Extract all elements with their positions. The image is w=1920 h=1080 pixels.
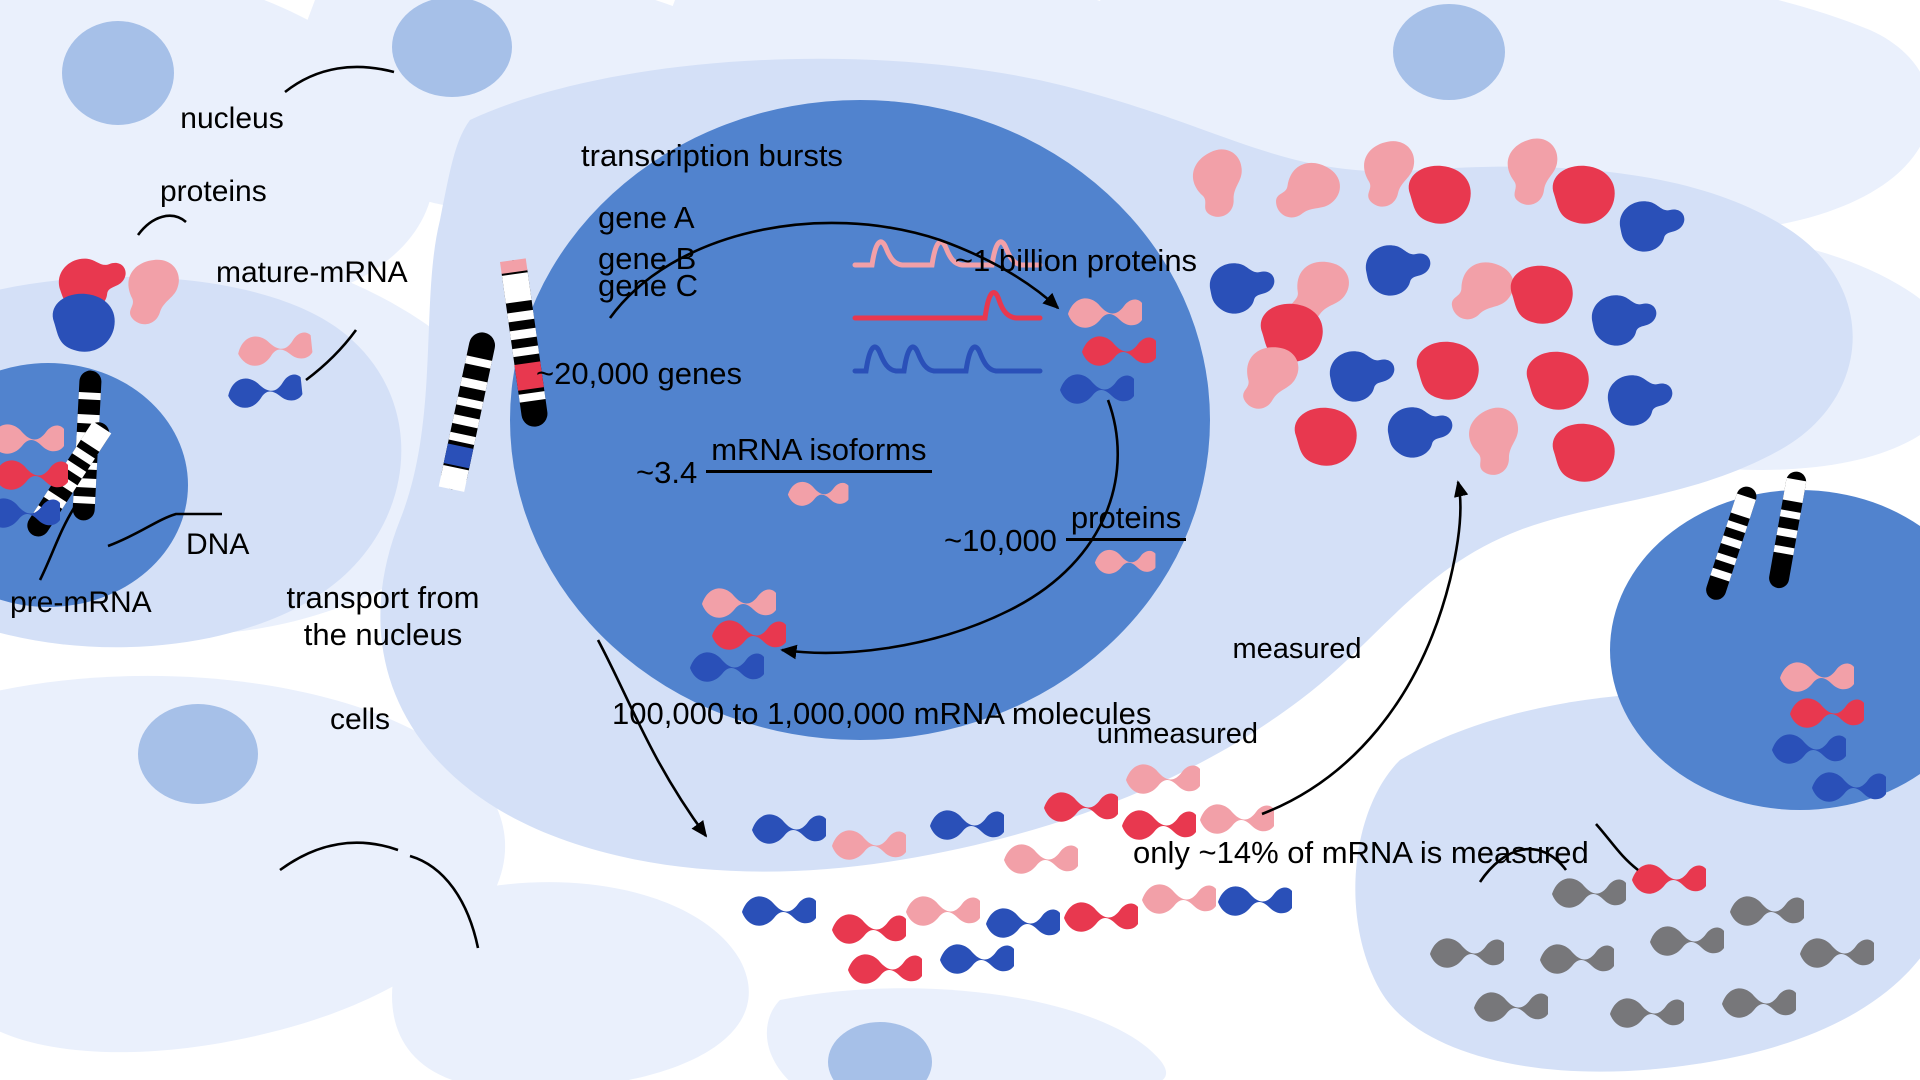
mrna-count-label: 100,000 to 1,000,000 mRNA molecules — [612, 696, 1151, 733]
genes-count-label: ~20,000 genes — [536, 356, 742, 393]
protein-count-label: ~1 billion proteins — [955, 243, 1197, 280]
measured-label: measured — [1233, 632, 1362, 666]
nucleus-label: nucleus — [180, 101, 283, 136]
fraction-denominator-mrna-icon — [706, 473, 931, 513]
measured-fraction-label: only ~14% of mRNA is measured — [1133, 835, 1589, 872]
pre-mrna-label: pre-mRNA — [10, 585, 152, 620]
fraction-lead: ~3.4 — [636, 455, 697, 491]
cells-leader-left — [280, 843, 398, 870]
diagram-canvas: nucleus proteins mature-mRNA DNA pre-mRN… — [0, 0, 1920, 1080]
fraction-numerator: mRNA isoforms — [706, 432, 931, 470]
proteins-leader — [138, 216, 186, 235]
mrna-isoforms-fraction: ~3.4 mRNA isoforms — [636, 432, 932, 513]
cells-label: cells — [330, 702, 390, 737]
unmeasured-label: unmeasured — [1097, 717, 1258, 751]
pre-mrna-leader — [40, 508, 74, 580]
gene-a-label: gene A — [598, 200, 695, 237]
cells-leader-right — [410, 856, 478, 948]
nucleus-leader — [285, 67, 394, 92]
fraction-numerator: proteins — [1066, 500, 1186, 538]
mature-mrna-leader — [306, 330, 356, 380]
transcription-bursts-title: transcription bursts — [581, 138, 843, 175]
gene-c-label: gene C — [598, 268, 698, 305]
transport-arrow — [598, 640, 706, 836]
transport-label: transport from the nucleus — [287, 580, 480, 653]
dna-label: DNA — [186, 527, 249, 562]
proteins-label: proteins — [160, 174, 267, 209]
mature-mrna-label: mature-mRNA — [216, 255, 408, 290]
proteins-per-mrna-fraction: ~10,000 proteins — [944, 500, 1186, 581]
fraction-lead: ~10,000 — [944, 523, 1057, 559]
measured-leader — [1596, 824, 1638, 870]
fraction-denominator-mrna-icon — [1066, 541, 1186, 581]
